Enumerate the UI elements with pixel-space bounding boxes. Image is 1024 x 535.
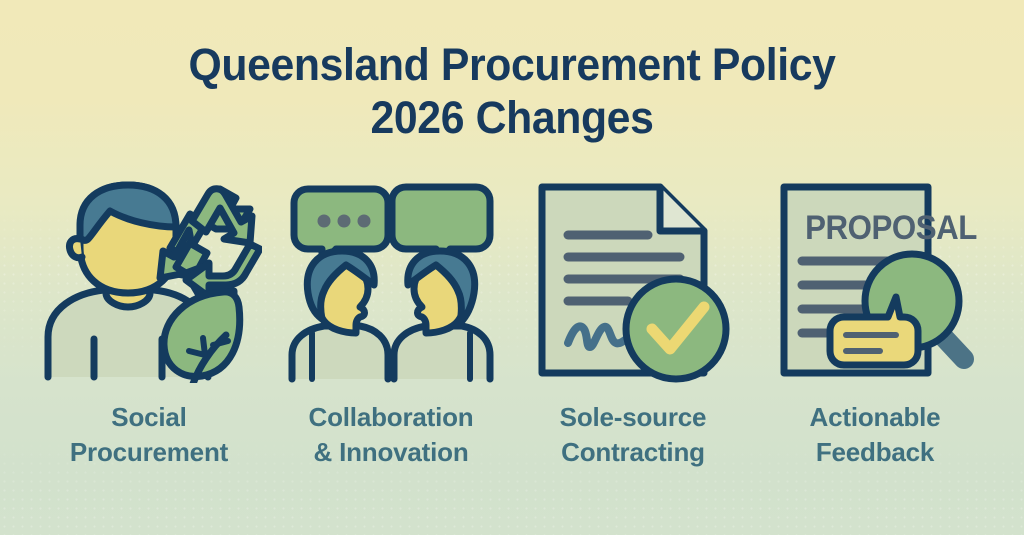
card-sole-source-contracting: Sole-source Contracting	[512, 176, 754, 470]
card-label-sole-source-contracting: Sole-source Contracting	[560, 400, 707, 470]
two-people-speech-bubbles-icon	[276, 176, 506, 384]
proposal-magnifier-comment-icon: PROPOSAL	[760, 176, 990, 384]
proposal-heading-text: PROPOSAL	[805, 208, 977, 247]
card-social-procurement: Social Procurement	[28, 176, 270, 470]
title-line-2: 2026 Changes	[26, 91, 999, 144]
infographic-canvas: Queensland Procurement Policy 2026 Chang…	[0, 0, 1024, 535]
label-line-2: Contracting	[561, 437, 705, 467]
person-recycle-leaf-icon	[34, 176, 264, 384]
label-line-2: & Innovation	[313, 437, 468, 467]
feature-card-row: Social Procurement	[0, 176, 1024, 470]
label-line-1: Collaboration	[309, 402, 474, 432]
label-line-2: Procurement	[70, 437, 228, 467]
card-label-social-procurement: Social Procurement	[70, 400, 228, 470]
card-label-actionable-feedback: Actionable Feedback	[810, 400, 941, 470]
page-title: Queensland Procurement Policy 2026 Chang…	[0, 38, 1024, 144]
title-line-1: Queensland Procurement Policy	[26, 38, 999, 91]
label-line-2: Feedback	[816, 437, 934, 467]
card-label-collaboration-innovation: Collaboration & Innovation	[309, 400, 474, 470]
label-line-1: Social	[111, 402, 186, 432]
label-line-1: Actionable	[810, 402, 941, 432]
card-actionable-feedback: PROPOSAL	[754, 176, 996, 470]
signed-document-check-icon	[518, 176, 748, 384]
label-line-1: Sole-source	[560, 402, 707, 432]
card-collaboration-innovation: Collaboration & Innovation	[270, 176, 512, 470]
